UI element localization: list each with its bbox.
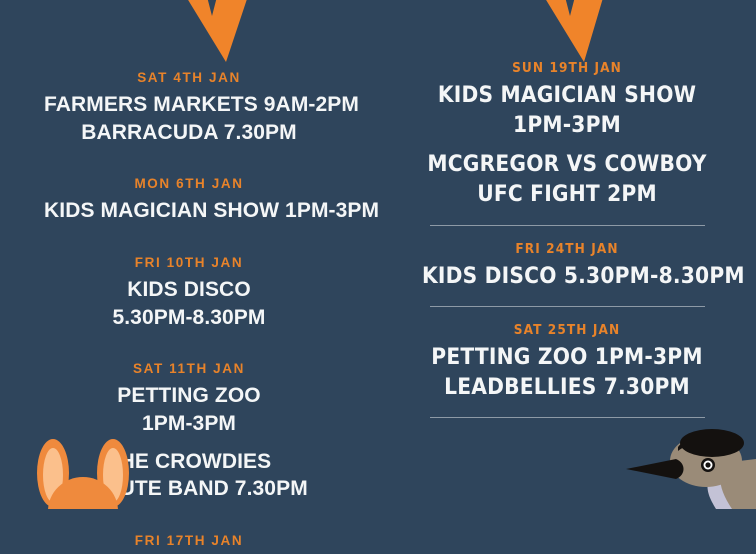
event-line: KIDS DISCO [44, 276, 334, 304]
event-line: KIDS MAGICIAN SHOW [422, 81, 712, 111]
left-column: SAT 4TH JAN FARMERS MARKETS 9AM-2PM BARR… [0, 0, 378, 509]
event-date: SUN 19TH JAN [422, 60, 712, 77]
event-date: SAT 4TH JAN [44, 70, 334, 87]
event-entry: SAT 11TH JAN PETTING ZOO 1PM-3PM THE CRO… [44, 361, 334, 503]
event-entry: SAT 25TH JAN PETTING ZOO 1PM-3PM LEADBEL… [422, 322, 712, 402]
event-date: FRI 10TH JAN [44, 255, 334, 272]
event-calendar-board: SAT 4TH JAN FARMERS MARKETS 9AM-2PM BARR… [0, 0, 756, 509]
event-date: FRI 24TH JAN [422, 241, 712, 258]
event-line: FARMERS MARKETS 9AM-2PM [44, 91, 334, 119]
event-line: 5.30PM-8.30PM [44, 304, 334, 332]
event-entry: FRI 10TH JAN KIDS DISCO 5.30PM-8.30PM [44, 255, 334, 331]
event-divider [430, 417, 705, 418]
event-divider [430, 225, 705, 226]
event-date: SAT 25TH JAN [422, 322, 712, 339]
event-line: PETTING ZOO [44, 382, 334, 410]
event-line: 1PM-3PM [44, 410, 334, 438]
event-entry: SAT 4TH JAN FARMERS MARKETS 9AM-2PM BARR… [44, 70, 334, 146]
event-line: KIDS MAGICIAN SHOW 1PM-3PM [44, 197, 334, 225]
event-date: SAT 11TH JAN [44, 361, 334, 378]
event-line: UFC FIGHT 2PM [422, 180, 712, 210]
event-date: MON 6TH JAN [44, 176, 334, 193]
event-line: 1PM-3PM [422, 111, 712, 141]
right-column: SUN 19TH JAN KIDS MAGICIAN SHOW 1PM-3PM … [378, 0, 756, 509]
event-line: PETTING ZOO 1PM-3PM [422, 343, 712, 373]
event-line: LEADBELLIES 7.30PM [422, 373, 712, 403]
event-line: KIDS DISCO 5.30PM-8.30PM [422, 262, 712, 292]
event-entry-partial: FRI 17TH JAN [44, 533, 334, 554]
event-line: TRIBUTE BAND 7.30PM [44, 475, 334, 503]
event-divider [430, 306, 705, 307]
event-entry: SUN 19TH JAN KIDS MAGICIAN SHOW 1PM-3PM … [422, 60, 712, 210]
event-line: THE CROWDIES [44, 448, 334, 476]
event-date: FRI 17TH JAN [44, 533, 334, 550]
event-entry: FRI 24TH JAN KIDS DISCO 5.30PM-8.30PM [422, 241, 712, 292]
event-entry: MON 6TH JAN KIDS MAGICIAN SHOW 1PM-3PM [44, 176, 334, 225]
event-line: MCGREGOR VS COWBOY [422, 150, 712, 180]
event-line: BARRACUDA 7.30PM [44, 119, 334, 147]
